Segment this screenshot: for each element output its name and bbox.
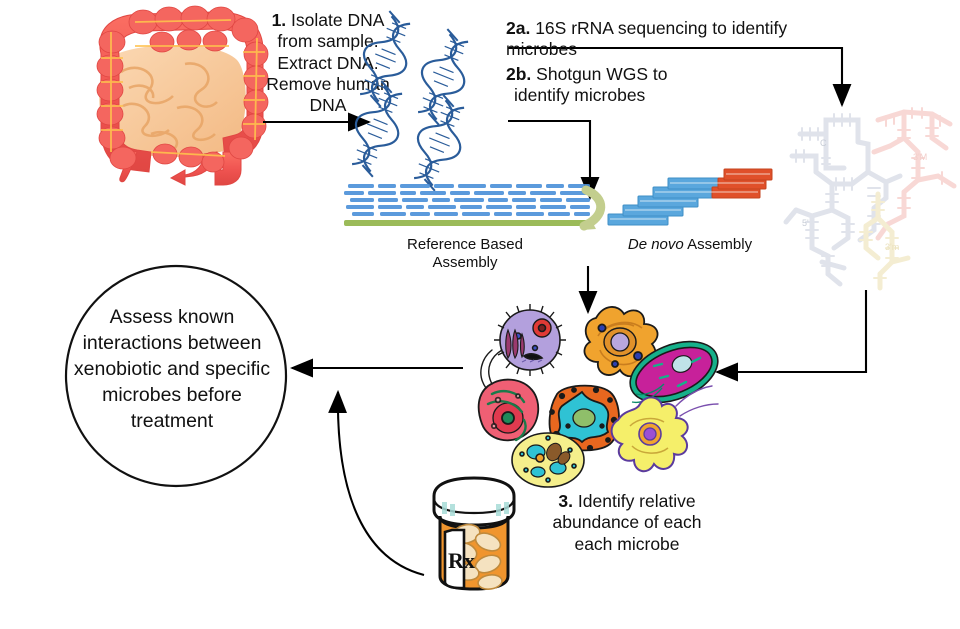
rrna-label-3m2: 3'm: [885, 242, 899, 252]
step-2b-number: 2b.: [506, 64, 531, 84]
reference-assembly-line1: Reference Based: [407, 236, 523, 253]
denovo-assembly-graphic: [606, 168, 776, 230]
pill-bottle-icon: Rx: [420, 472, 530, 594]
microbe-purple-round: [494, 304, 566, 376]
step-2a-text: 16S rRNA sequencing to identify microbes: [506, 18, 787, 59]
contig-bars: [608, 169, 772, 225]
rrna-label-c: C: [820, 138, 827, 148]
step-3-line1: Identify relative: [578, 491, 696, 511]
reference-assembly-line2: Assembly: [432, 254, 497, 271]
reference-assembly-graphic: [344, 182, 594, 232]
step-3-text-block: 3. Identify relative abundance of each e…: [532, 491, 722, 555]
outcome-line4: microbes before: [102, 384, 242, 406]
reference-assembly-caption: Reference Based Assembly: [385, 236, 545, 273]
diagram-canvas: 1. Isolate DNA from sample. Extract DNA.…: [0, 0, 960, 629]
step-3-line3: each microbe: [574, 534, 679, 554]
denovo-assembly-caption: De novo Assembly: [610, 236, 770, 254]
step-2a-text-block: 2a. 16S rRNA sequencing to identify micr…: [506, 18, 846, 61]
step-2b-text-block: 2b. Shotgun WGS to identify microbes: [506, 64, 706, 107]
denovo-italic: De novo: [628, 236, 684, 253]
outcome-line1: Assess known: [110, 306, 235, 328]
arrow-pill-to-circle: [338, 392, 424, 575]
outcome-line3: xenobiotic and specific: [74, 358, 270, 380]
rrna-label-5prime: 5': [802, 218, 809, 228]
sequencing-reads: [344, 184, 590, 216]
denovo-rest: Assembly: [684, 236, 752, 253]
rrna-secondary-structure: C 5' 3'M 3'm: [782, 98, 960, 290]
step-3-line2: abundance of each: [553, 512, 702, 532]
rrna-label-3m: 3'M: [913, 152, 927, 162]
dna-helix-icon: [378, 12, 498, 157]
outcome-line2: interactions between: [83, 332, 262, 354]
reference-genome-bar: [344, 220, 588, 226]
step-3-number: 3.: [558, 491, 573, 511]
outcome-circle-text: Assess known interactions between xenobi…: [72, 305, 272, 435]
pill-label-text: Rx: [448, 548, 475, 573]
microbe-cluster-illustration: [478, 300, 723, 475]
step-2a-number: 2a.: [506, 18, 530, 38]
step-2b-line1: Shotgun WGS to: [536, 64, 667, 84]
arrow-rrna-to-microbes: [717, 290, 866, 372]
step-2b-line2: identify microbes: [506, 85, 645, 105]
outcome-line5: treatment: [131, 410, 213, 432]
